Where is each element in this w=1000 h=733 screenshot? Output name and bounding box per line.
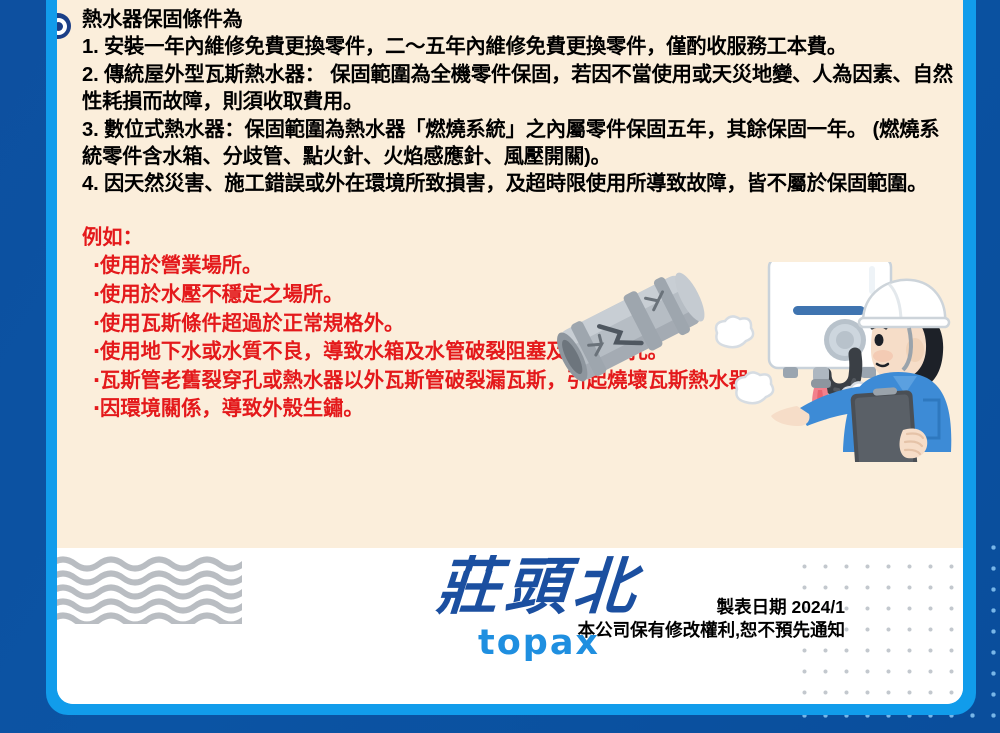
footer-notice: 本公司保有修改權利,恕不預先通知 <box>578 619 845 642</box>
example-item-6: ‧因環境關係，導致外殼生鏽。 <box>82 395 957 424</box>
example-item-3: ‧使用瓦斯條件超過於正常規格外。 <box>82 310 957 339</box>
examples-heading: 例如： <box>82 224 957 253</box>
examples-block: 例如： ‧使用於營業場所。 ‧使用於水壓不穩定之場所。 ‧使用瓦斯條件超過於正常… <box>82 224 957 424</box>
term-item-4: 4. 因天然災害、施工錯誤或外在環境所致損害，及超時限使用所導致故障，皆不屬於保… <box>82 171 957 198</box>
poster-card: 熱水器保固條件為 1. 安裝一年內維修免費更換零件，二～五年內維修免費更換零件，… <box>57 0 963 704</box>
example-item-5: ‧瓦斯管老舊裂穿孔或熱水器以外瓦斯管破裂漏瓦斯，引起燒壞瓦斯熱水器。 <box>82 367 957 396</box>
example-item-1: ‧使用於營業場所。 <box>82 252 957 281</box>
terms-column: 熱水器保固條件為 1. 安裝一年內維修免費更換零件，二～五年內維修免費更換零件，… <box>71 8 963 424</box>
page-title: 熱水器保固條件為 <box>82 7 957 34</box>
content-head-row: 熱水器保固條件為 1. 安裝一年內維修免費更換零件，二～五年內維修免費更換零件，… <box>57 0 963 424</box>
poster-footer: 莊頭北 topax 製表日期 2024/1 本公司保有修改權利,恕不預先通知 <box>57 548 963 704</box>
example-item-4: ‧使用地下水或水質不良，導致水箱及水管破裂阻塞及銹蝕穿孔。 <box>82 338 957 367</box>
term-item-1: 1. 安裝一年內維修免費更換零件，二～五年內維修免費更換零件，僅酌收服務工本費。 <box>82 34 957 61</box>
poster-root: 熱水器保固條件為 1. 安裝一年內維修免費更換零件，二～五年內維修免費更換零件，… <box>0 0 1000 733</box>
footer-date: 製表日期 2024/1 <box>578 596 845 619</box>
term-item-2: 2. 傳統屋外型瓦斯熱水器： 保固範圍為全機零件保固，若因不當使用或天災地變、人… <box>82 62 957 117</box>
target-ring-icon <box>57 13 71 39</box>
example-item-2: ‧使用於水壓不穩定之場所。 <box>82 281 957 310</box>
footer-meta: 製表日期 2024/1 本公司保有修改權利,恕不預先通知 <box>578 596 845 642</box>
term-item-3: 3. 數位式熱水器：保固範圍為熱水器「燃燒系統」之內屬零件保固五年，其餘保固一年… <box>82 117 957 172</box>
